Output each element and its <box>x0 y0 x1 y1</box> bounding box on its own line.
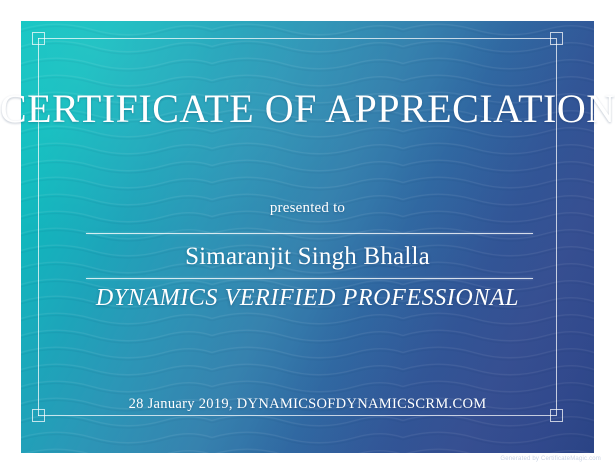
divider-below-name <box>86 278 533 279</box>
generator-watermark: Generated by CertificateMagic.com <box>500 456 601 462</box>
divider-above-name <box>86 233 533 234</box>
certificate-root: CERTIFICATE OF APPRECIATION presented to… <box>0 0 615 472</box>
certificate-content: CERTIFICATE OF APPRECIATION presented to… <box>0 0 615 472</box>
certificate-title: CERTIFICATE OF APPRECIATION <box>0 88 615 130</box>
certificate-footer-date-and-site: 28 January 2019, DYNAMICSOFDYNAMICSCRM.C… <box>0 396 615 413</box>
recipient-name: Simaranjit Singh Bhalla <box>0 243 615 271</box>
credential-title: DYNAMICS VERIFIED PROFESSIONAL <box>0 285 615 312</box>
presented-to-label: presented to <box>0 200 615 217</box>
